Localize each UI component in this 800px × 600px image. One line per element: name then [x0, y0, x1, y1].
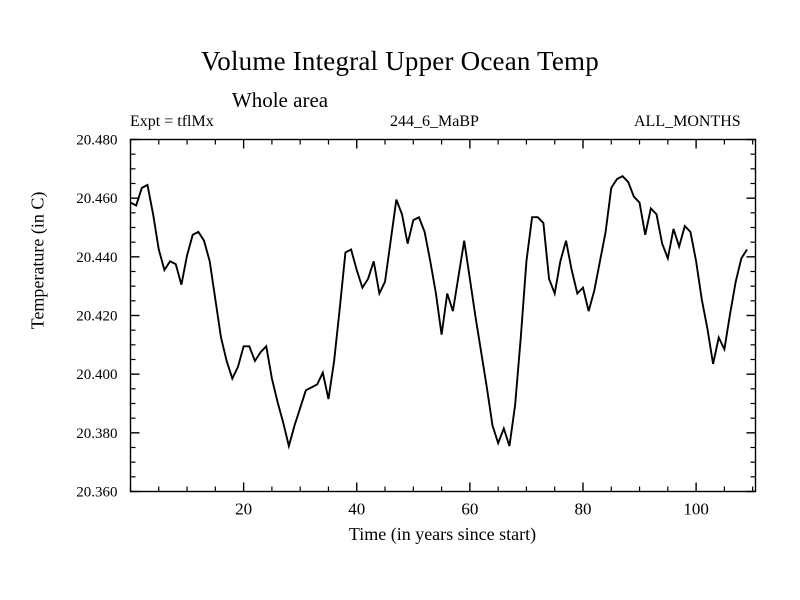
- x-tick-label: 60: [461, 500, 478, 519]
- y-tick-label: 20.460: [76, 191, 117, 207]
- x-axis-ticks: [131, 140, 753, 492]
- y-tick-label: 20.400: [76, 367, 117, 383]
- chart-plot-area: 20.48020.46020.44020.42020.40020.38020.3…: [0, 0, 800, 600]
- x-tick-label: 40: [348, 500, 365, 519]
- y-tick-label: 20.420: [76, 309, 117, 325]
- y-tick-label: 20.360: [76, 485, 117, 501]
- y-axis-tick-labels: 20.48020.46020.44020.42020.40020.38020.3…: [76, 133, 117, 501]
- data-line-upper-ocean-temperature: [131, 176, 748, 446]
- x-axis-tick-labels: 20406080100: [235, 500, 709, 519]
- x-tick-label: 20: [235, 500, 252, 519]
- y-axis-ticks: [131, 140, 756, 492]
- x-tick-label: 100: [683, 500, 709, 519]
- y-tick-label: 20.480: [76, 133, 117, 149]
- chart-page: Volume Integral Upper Ocean Temp Whole a…: [0, 0, 800, 600]
- y-tick-label: 20.380: [76, 426, 117, 442]
- data-series-group: [131, 176, 748, 446]
- y-tick-label: 20.440: [76, 250, 117, 266]
- x-tick-label: 80: [574, 500, 591, 519]
- plot-frame: [131, 140, 756, 492]
